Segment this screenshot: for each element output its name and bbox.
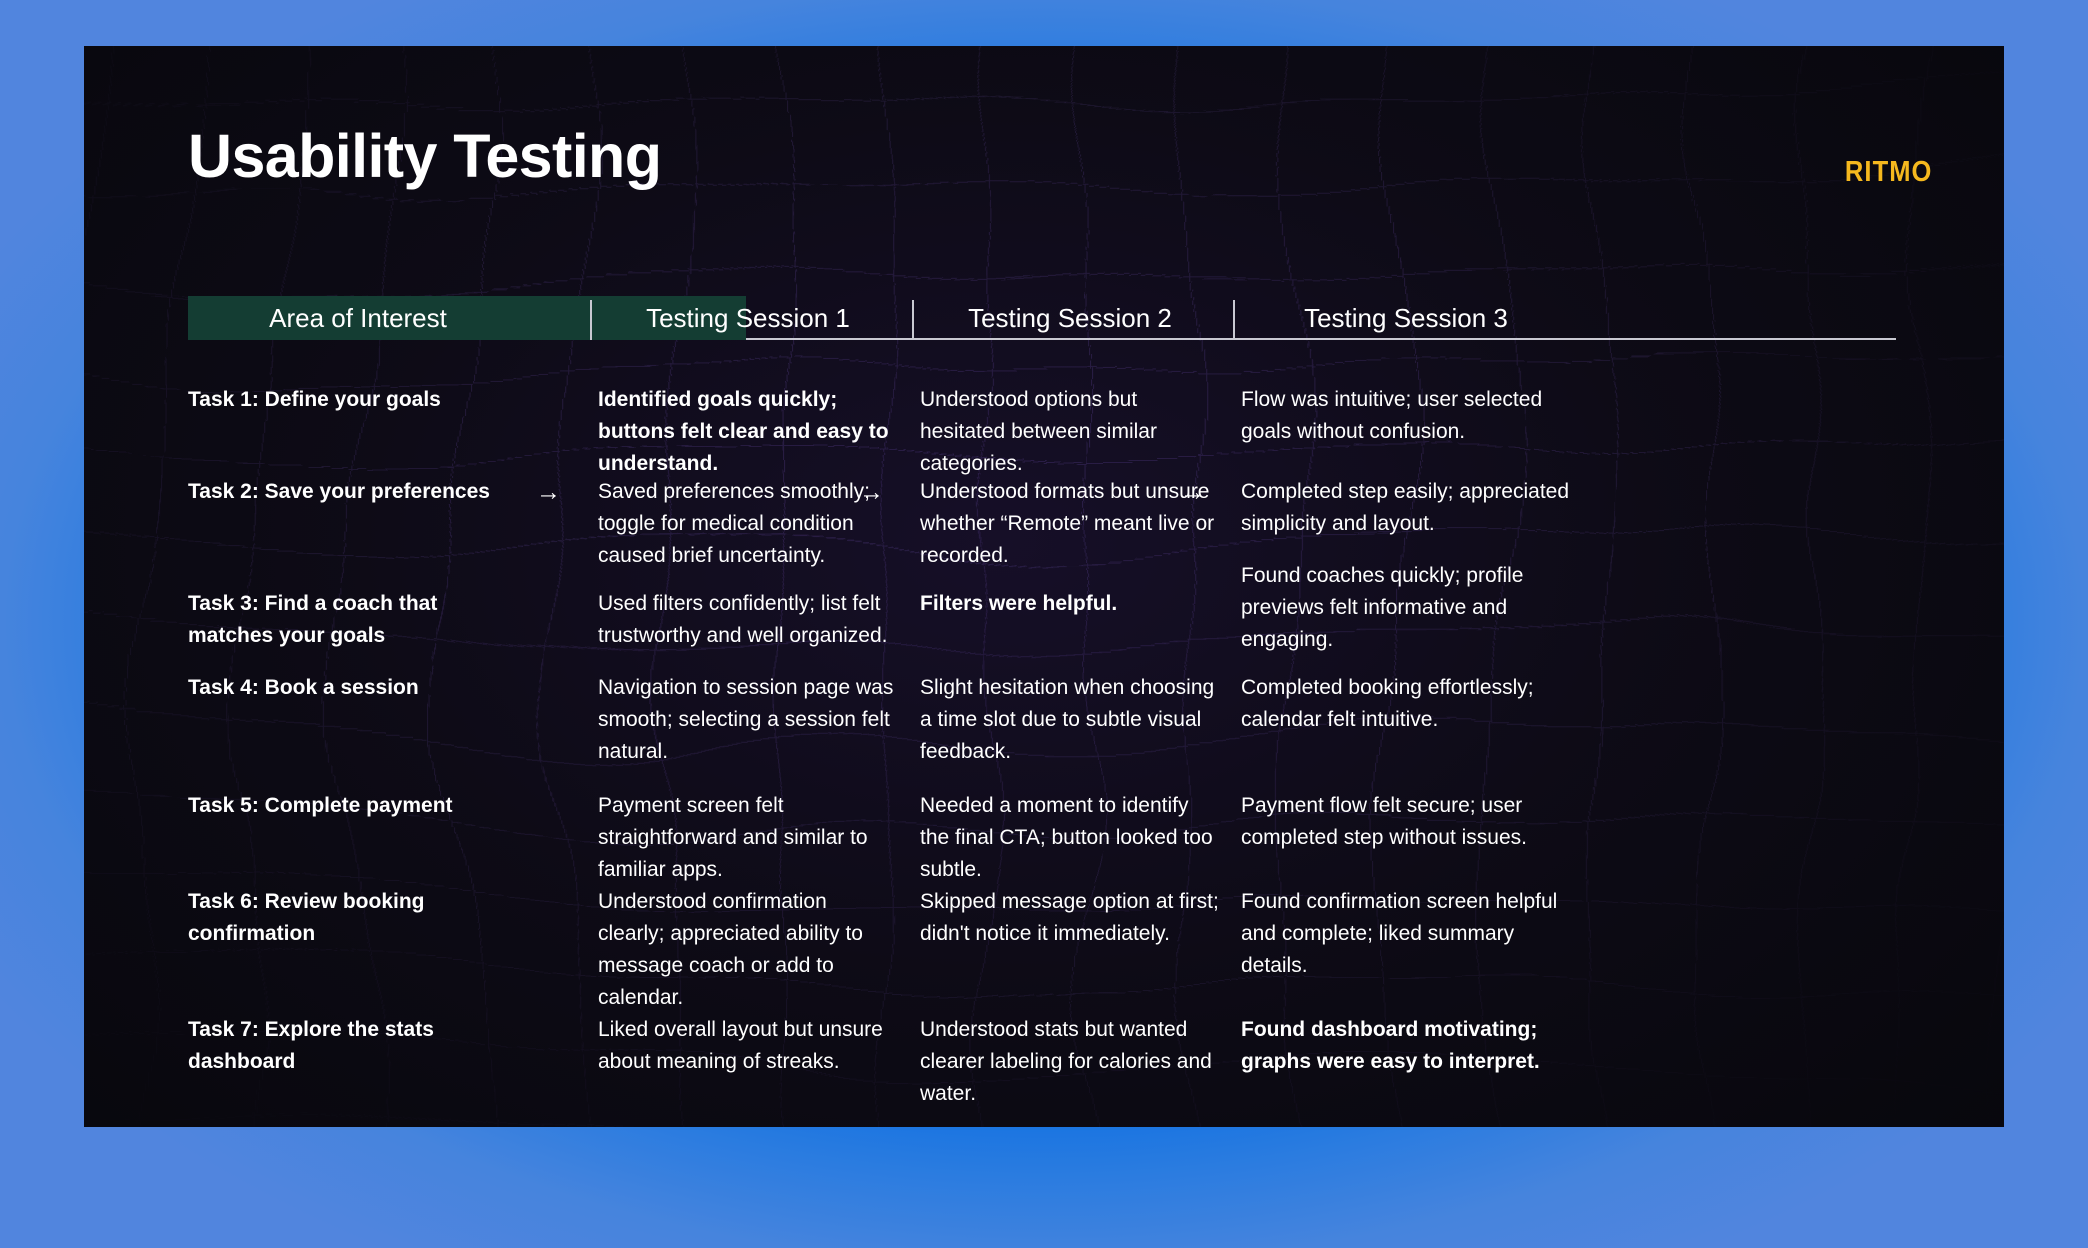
table-row: Understood options but hesitated between… bbox=[920, 384, 1220, 480]
table-row: Needed a moment to identify the final CT… bbox=[920, 790, 1220, 886]
column-header-testing-session-1: Testing Session 1 bbox=[598, 296, 898, 340]
table-row: Payment flow felt secure; user completed… bbox=[1241, 790, 1571, 854]
table-row: Flow was intuitive; user selected goals … bbox=[1241, 384, 1571, 448]
table-row: Found confirmation screen helpful and co… bbox=[1241, 886, 1571, 982]
column-divider-2 bbox=[912, 300, 914, 340]
table-row: Found dashboard motivating; graphs were … bbox=[1241, 1014, 1571, 1078]
brand-logo: RITMO bbox=[1844, 156, 1932, 189]
slide-card: Usability Testing RITMO Area of Interest… bbox=[84, 46, 2004, 1127]
arrow-right-icon: → bbox=[859, 480, 884, 505]
table-row: Task 5: Complete payment bbox=[188, 790, 528, 822]
table-row: Understood confirmation clearly; appreci… bbox=[598, 886, 898, 1014]
table-row: Saved preferences smoothly; toggle for m… bbox=[598, 476, 898, 572]
column-header-testing-session-3: Testing Session 3 bbox=[1241, 296, 1571, 340]
table-row: Used filters confidently; list felt trus… bbox=[598, 588, 898, 652]
table-row: Payment screen felt straightforward and … bbox=[598, 790, 898, 886]
arrow-right-icon: → bbox=[536, 480, 561, 505]
table-row: Identified goals quickly; buttons felt c… bbox=[598, 384, 898, 480]
slide-backdrop: Usability Testing RITMO Area of Interest… bbox=[0, 0, 2088, 1248]
table-row: Task 4: Book a session bbox=[188, 672, 528, 704]
table-row: Filters were helpful. bbox=[920, 588, 1220, 620]
table-row: Task 2: Save your preferences bbox=[188, 476, 528, 508]
table-row: Task 3: Find a coach that matches your g… bbox=[188, 588, 528, 652]
column-divider-1 bbox=[590, 300, 592, 340]
table-row: Navigation to session page was smooth; s… bbox=[598, 672, 898, 768]
table-header-row: Area of Interest Testing Session 1 Testi… bbox=[188, 296, 1896, 340]
column-divider-3 bbox=[1233, 300, 1235, 340]
table-row: Task 6: Review booking confirmation bbox=[188, 886, 528, 950]
table-row: Understood formats but unsure whether “R… bbox=[920, 476, 1220, 572]
table-row: Understood stats but wanted clearer labe… bbox=[920, 1014, 1220, 1110]
table-row: Found coaches quickly; profile previews … bbox=[1241, 560, 1571, 656]
usability-testing-table: Area of Interest Testing Session 1 Testi… bbox=[188, 296, 1896, 1127]
table-row: Task 1: Define your goals bbox=[188, 384, 528, 416]
table-row: Slight hesitation when choosing a time s… bbox=[920, 672, 1220, 768]
table-row: Completed step easily; appreciated simpl… bbox=[1241, 476, 1571, 540]
table-row: Liked overall layout but unsure about me… bbox=[598, 1014, 898, 1078]
column-header-area-of-interest: Area of Interest bbox=[188, 296, 528, 340]
column-header-testing-session-2: Testing Session 2 bbox=[920, 296, 1220, 340]
page-title: Usability Testing bbox=[188, 124, 661, 188]
table-row: Task 7: Explore the stats dashboard bbox=[188, 1014, 528, 1078]
table-body: Task 1: Define your goals Identified goa… bbox=[188, 340, 1896, 1127]
table-row: Skipped message option at first; didn't … bbox=[920, 886, 1220, 950]
arrow-right-icon: → bbox=[1180, 480, 1205, 505]
table-row: Completed booking effortlessly; calendar… bbox=[1241, 672, 1571, 736]
